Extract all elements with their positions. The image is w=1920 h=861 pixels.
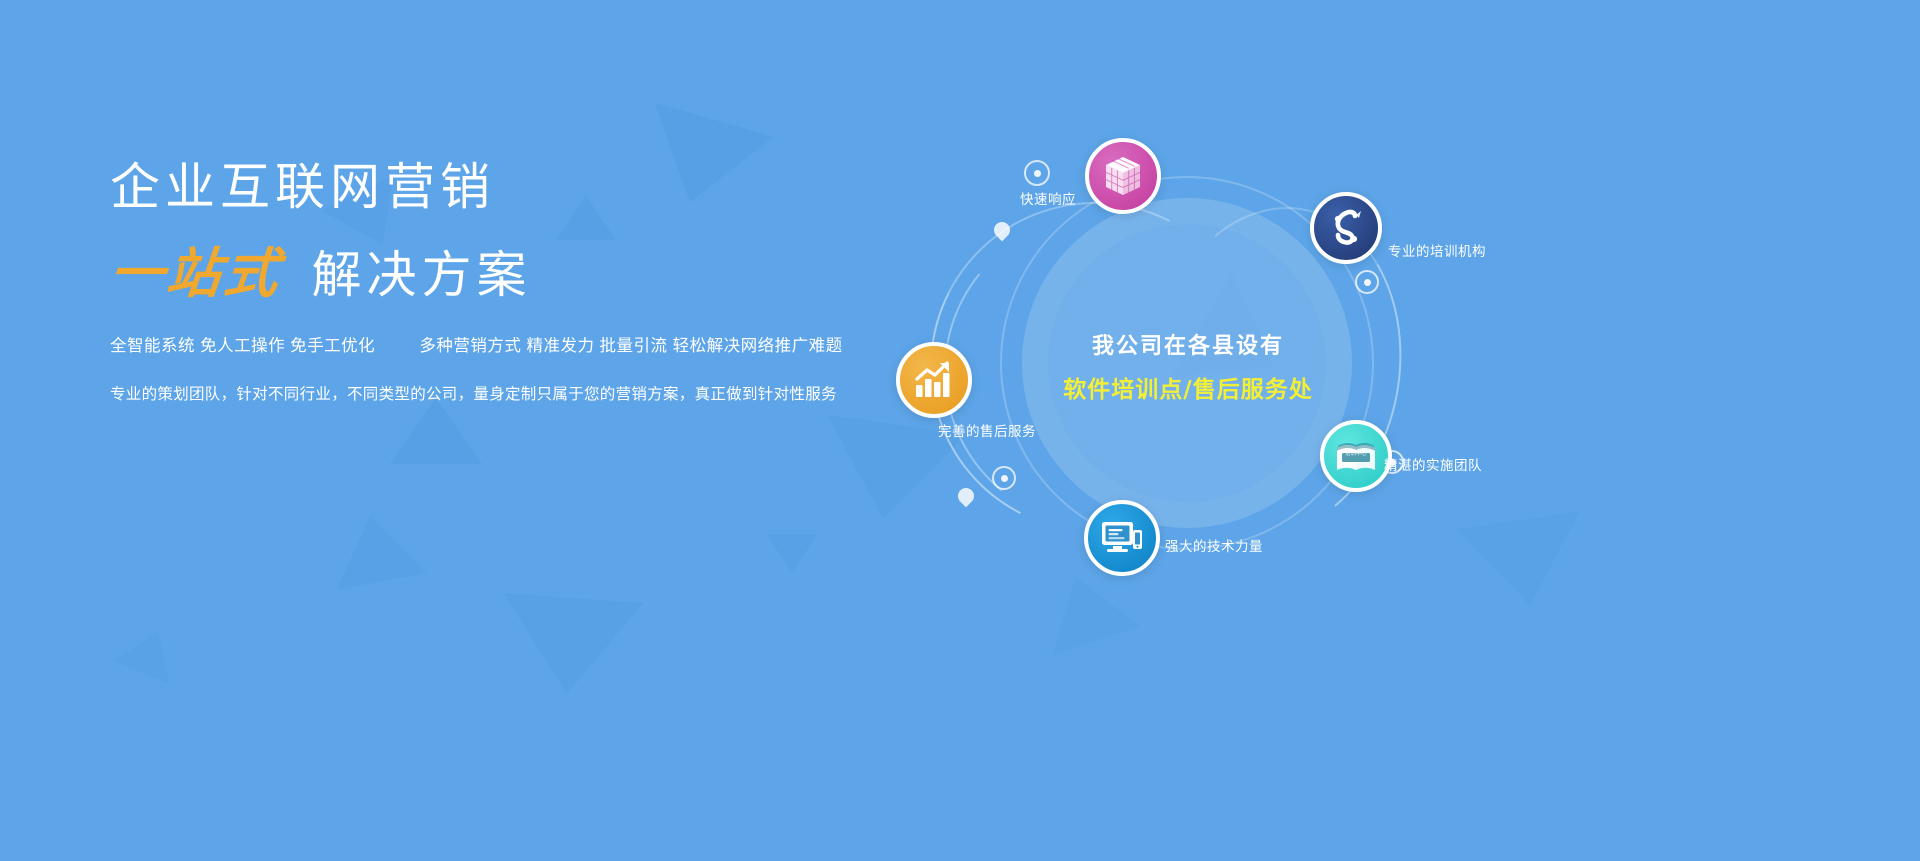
target-ring-icon [1355, 270, 1379, 294]
book-icon: 培训中心 [1335, 436, 1377, 476]
node-badge-implementation-team[interactable]: 培训中心 [1320, 420, 1392, 492]
cube-icon [1103, 155, 1143, 197]
teardrop-marker-icon [955, 485, 978, 508]
headline-primary: 企业互联网营销 [110, 160, 870, 215]
decor-triangle [114, 620, 186, 683]
diagram-center-text: 我公司在各县设有 软件培训点/售后服务处 [1050, 328, 1326, 404]
headline-secondary-text: 解决方案 [311, 247, 531, 303]
target-ring-icon [1024, 160, 1050, 186]
book-icon-caption: 培训中心 [1335, 450, 1377, 457]
decor-triangle [325, 509, 427, 590]
decor-triangle [497, 593, 643, 699]
headline-secondary: 一站式 解决方案 [110, 245, 870, 302]
node-label-tech-power: 强大的技术力量 [1165, 535, 1263, 555]
node-badge-training-org[interactable] [1310, 192, 1382, 264]
hero-text-block: 企业互联网营销 一站式 解决方案 全智能系统 免人工操作 免手工优化 多种营销方… [110, 160, 870, 404]
hero-paragraph: 专业的策划团队，针对不同行业，不同类型的公司，量身定制只属于您的营销方案，真正做… [110, 382, 870, 404]
feature-line: 全智能系统 免人工操作 免手工优化 多种营销方式 精准发力 批量引流 轻松解决网… [110, 332, 870, 356]
feature-group-1: 全智能系统 免人工操作 免手工优化 [110, 337, 375, 355]
hero-banner: 企业互联网营销 一站式 解决方案 全智能系统 免人工操作 免手工优化 多种营销方… [0, 0, 1920, 861]
center-subheadline: 软件培训点/售后服务处 [1050, 370, 1326, 404]
node-label-fast-response: 快速响应 [1020, 188, 1076, 208]
decor-triangle [766, 534, 818, 572]
node-label-training-org: 专业的培训机构 [1388, 240, 1486, 260]
target-ring-icon [992, 466, 1016, 490]
headline-accent-text: 一站式 [107, 245, 284, 302]
feature-group-2: 多种营销方式 精准发力 批量引流 轻松解决网络推广难题 [419, 337, 842, 355]
bar-chart-icon [913, 361, 955, 399]
circular-infographic: 我公司在各县设有 软件培训点/售后服务处 快速响应 [900, 110, 1520, 610]
decor-triangle [390, 398, 482, 464]
monitor-icon [1100, 518, 1144, 558]
s-logo-icon [1325, 207, 1367, 249]
node-label-implementation-team: 精湛的实施团队 [1384, 454, 1482, 474]
node-badge-after-sales[interactable] [896, 342, 972, 418]
center-headline: 我公司在各县设有 [1050, 328, 1326, 360]
node-badge-fast-response[interactable] [1085, 138, 1161, 214]
node-label-after-sales: 完善的售后服务 [938, 420, 1036, 440]
node-badge-tech-power[interactable] [1084, 500, 1160, 576]
